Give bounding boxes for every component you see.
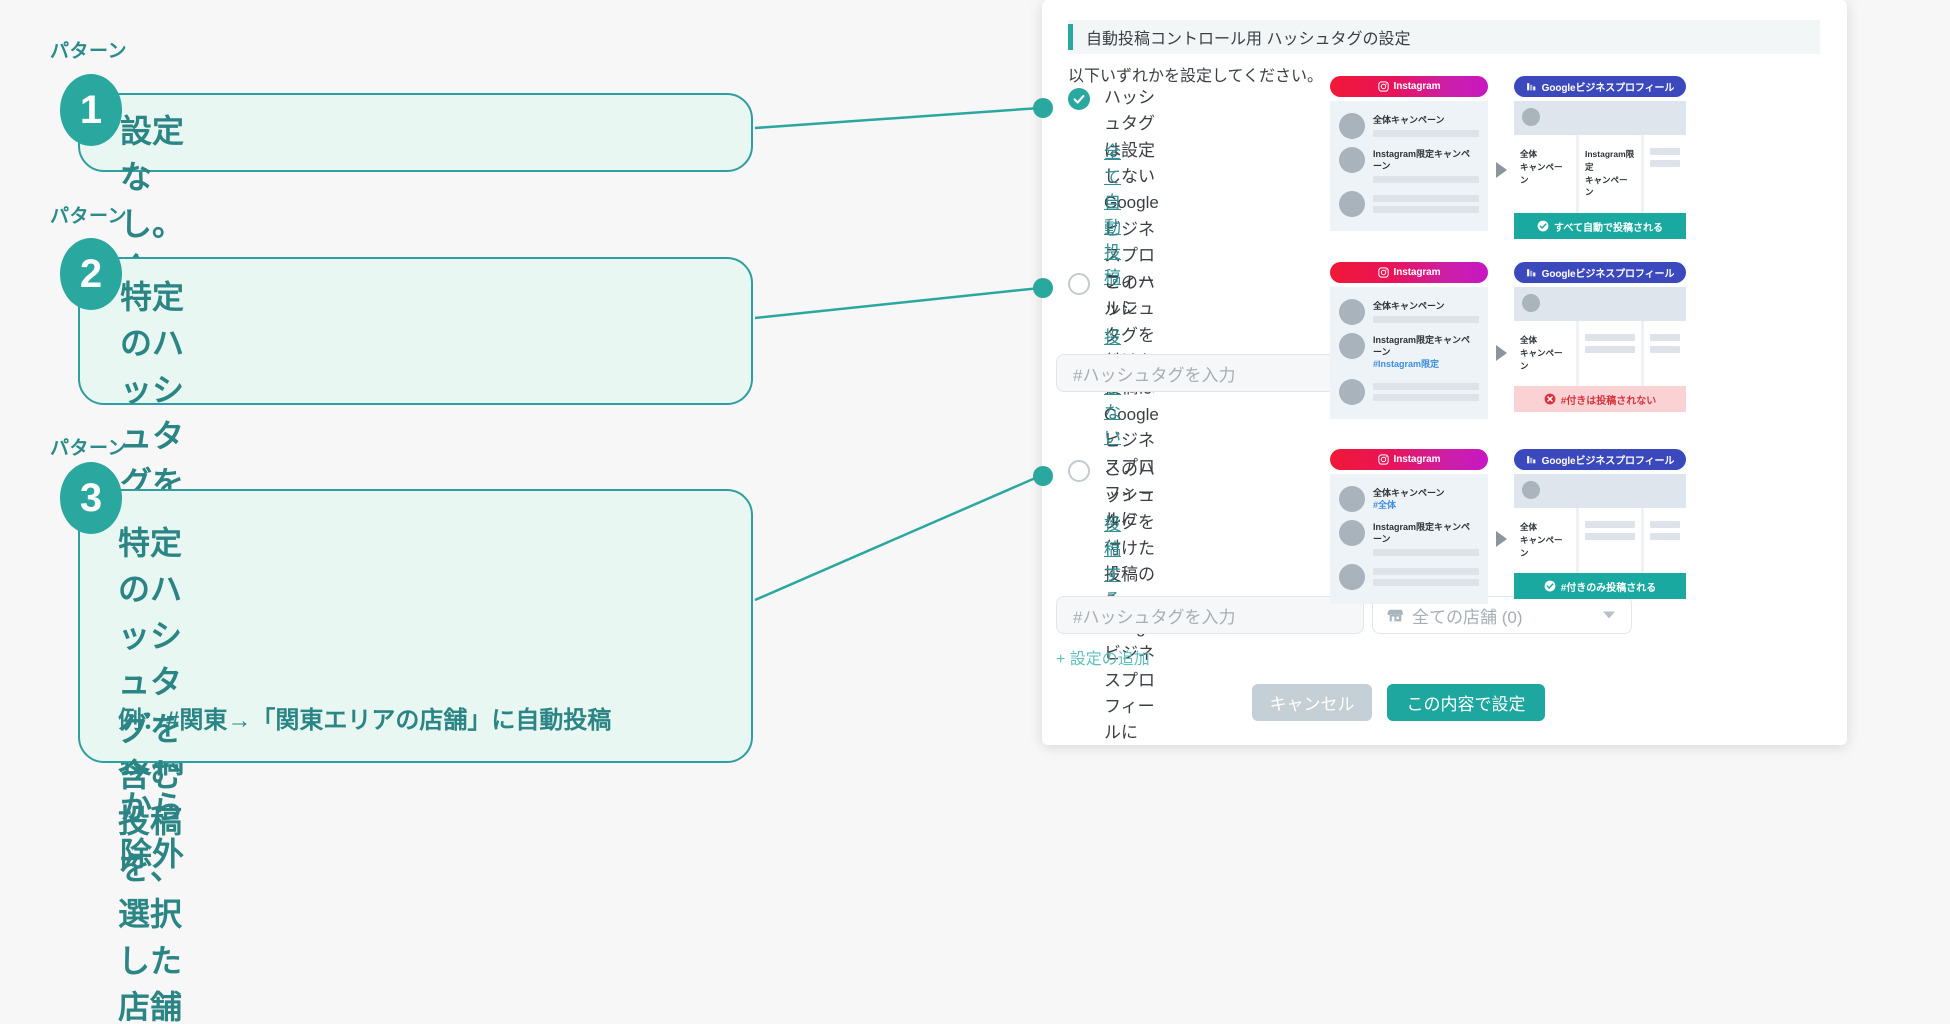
instagram-card-3: Instagram 全体キャンペーン #全体 Instagram限定キャンペーン — [1330, 449, 1488, 604]
instagram-post: 全体キャンペーン — [1330, 295, 1488, 329]
gbp-cell-bar — [1650, 148, 1680, 155]
cancel-button[interactable]: キャンセル — [1252, 684, 1372, 721]
instagram-post: 全体キャンペーン — [1330, 109, 1488, 143]
gbp-cell-bar — [1650, 346, 1680, 353]
gbp-pill-label-2: Googleビジネスプロフィール — [1542, 265, 1675, 280]
gbp-pill-label-1: Googleビジネスプロフィール — [1542, 79, 1675, 94]
post-hashtag: #Instagram限定 — [1373, 358, 1479, 371]
avatar — [1522, 481, 1540, 499]
instagram-pill-label-3: Instagram — [1394, 454, 1441, 465]
post-bar — [1373, 383, 1479, 390]
gbp-cell-bar — [1585, 533, 1635, 540]
gbp-header — [1514, 287, 1686, 321]
option-1-link[interactable]: 全て自動投稿 — [1104, 138, 1121, 288]
post-title: Instagram限定キャンペーン — [1373, 148, 1479, 172]
instagram-card-2: Instagram 全体キャンペーン Instagram限定キャンペーン — [1330, 262, 1488, 419]
instagram-post: Instagram限定キャンペーン #Instagram限定 — [1330, 329, 1488, 375]
avatar — [1522, 294, 1540, 312]
gbp-cell-bar — [1585, 346, 1635, 353]
flow-arrow-wrap-2 — [1488, 321, 1514, 361]
gbp-card-2: Googleビジネスプロフィール 全体 キャンペーン — [1514, 262, 1686, 412]
gbp-header — [1514, 101, 1686, 135]
post-bar — [1373, 394, 1479, 401]
avatar — [1339, 564, 1365, 590]
flow-arrow-wrap-1 — [1488, 138, 1514, 178]
post-bar — [1373, 130, 1479, 137]
avatar — [1339, 191, 1365, 217]
gbp-card-3: Googleビジネスプロフィール 全体 キャンペーン — [1514, 449, 1686, 599]
avatar — [1339, 379, 1365, 405]
post-bar — [1373, 579, 1479, 586]
connector-lines — [740, 0, 1070, 1024]
instagram-post — [1330, 375, 1488, 409]
instagram-post: 全体キャンペーン #全体 — [1330, 482, 1488, 516]
instagram-feed-1: 全体キャンペーン Instagram限定キャンペーン — [1330, 101, 1488, 231]
instagram-feed-2: 全体キャンペーン Instagram限定キャンペーン #Instagram限定 — [1330, 287, 1488, 419]
gbp-cell: Instagram限定 キャンペーン — [1579, 135, 1641, 213]
gbp-preview-2: 全体 キャンペーン — [1514, 287, 1686, 412]
pattern-example-3: 例：#関東→「関東エリアの店舗」に自動投稿 — [118, 700, 611, 735]
gbp-cell — [1644, 508, 1686, 573]
gbp-cell — [1644, 135, 1686, 213]
instagram-post — [1330, 187, 1488, 221]
gbp-pill-label-3: Googleビジネスプロフィール — [1542, 452, 1675, 467]
status-badge-1: すべて自動で投稿される — [1514, 213, 1686, 239]
radio-option-1[interactable] — [1068, 88, 1090, 110]
hashtag-settings-dialog: 自動投稿コントロール用 ハッシュタグの設定 以下いずれかを設定してください。 ハ… — [1042, 0, 1847, 745]
gbp-header — [1514, 474, 1686, 508]
post-title: 全体キャンペーン — [1373, 114, 1479, 126]
gbp-preview-3: 全体 キャンペーン — [1514, 474, 1686, 599]
pattern-label-2: パターン — [50, 201, 127, 228]
confirm-button[interactable]: この内容で設定 — [1387, 684, 1545, 721]
avatar — [1339, 486, 1365, 512]
pattern-label-3: パターン — [50, 433, 127, 460]
check-circle-icon — [1537, 220, 1549, 232]
diagram-2: Instagram 全体キャンペーン Instagram限定キャンペーン — [1330, 262, 1686, 419]
instagram-pill-label-2: Instagram — [1394, 267, 1441, 278]
gbp-cell-text: 全体 キャンペーン — [1520, 148, 1570, 186]
arrow-right-icon — [1496, 162, 1507, 178]
instagram-pill-2: Instagram — [1330, 262, 1488, 283]
dialog-subtitle: 以下いずれかを設定してください。 — [1068, 62, 1323, 86]
instagram-card-1: Instagram 全体キャンペーン Instagram限定キャンペーン — [1330, 76, 1488, 231]
gbp-cell: 全体 キャンペーン — [1514, 135, 1576, 213]
option-3-link[interactable]: 投稿する — [1104, 510, 1121, 610]
post-bar — [1373, 316, 1479, 323]
google-business-icon — [1526, 267, 1537, 278]
pattern-text-3: 特定のハッシュタグを含む投稿を、 選択した店舗のプロフィールにのみ 自動投稿 — [118, 520, 182, 1024]
gbp-cells: 全体 キャンペーン — [1514, 508, 1686, 573]
gbp-cell-text: 全体 キャンペーン — [1520, 334, 1570, 372]
avatar — [1339, 147, 1365, 173]
gbp-cells: 全体 キャンペーン Instagram限定 キャンペーン — [1514, 135, 1686, 213]
gbp-pill-2: Googleビジネスプロフィール — [1514, 262, 1686, 283]
gbp-cell-text: Instagram限定 キャンペーン — [1585, 148, 1635, 199]
gbp-card-1: Googleビジネスプロフィール 全体 キャンペーン Instagram限定 キ… — [1514, 76, 1686, 239]
diagram-3: Instagram 全体キャンペーン #全体 Instagram限定キャンペーン — [1330, 449, 1686, 604]
arrow-right-icon — [1496, 345, 1507, 361]
status-text-1: すべて自動で投稿される — [1554, 219, 1663, 234]
hashtag-input-option-2[interactable]: #ハッシュタグを入力 — [1056, 354, 1336, 392]
gbp-cell: 全体 キャンペーン — [1514, 508, 1576, 573]
status-badge-2: #付きは投稿されない — [1514, 386, 1686, 412]
google-business-icon — [1526, 81, 1537, 92]
google-business-icon — [1526, 454, 1537, 465]
store-select-value: 全ての店舗 (0) — [1412, 603, 1523, 628]
avatar — [1339, 333, 1365, 359]
instagram-pill-label-1: Instagram — [1394, 81, 1441, 92]
avatar — [1339, 113, 1365, 139]
chevron-down-icon[interactable] — [1603, 612, 1615, 619]
status-text-2: #付きは投稿されない — [1561, 392, 1657, 407]
avatar — [1522, 108, 1540, 126]
post-bar — [1373, 195, 1479, 202]
gbp-cells: 全体 キャンペーン — [1514, 321, 1686, 386]
hashtag-input-option-3[interactable]: #ハッシュタグを入力 — [1056, 596, 1364, 634]
avatar — [1339, 299, 1365, 325]
gbp-cell-bar — [1650, 334, 1680, 341]
gbp-cell-text: 全体 キャンペーン — [1520, 521, 1570, 559]
post-title: Instagram限定キャンペーン — [1373, 521, 1479, 545]
gbp-cell-bar — [1585, 334, 1635, 341]
post-title: 全体キャンペーン — [1373, 487, 1479, 499]
store-icon — [1387, 607, 1404, 624]
gbp-cell — [1644, 321, 1686, 386]
gbp-pill-1: Googleビジネスプロフィール — [1514, 76, 1686, 97]
gbp-cell-bar — [1650, 160, 1680, 167]
flow-arrow-wrap-3 — [1488, 507, 1514, 547]
instagram-post — [1330, 560, 1488, 594]
gbp-pill-3: Googleビジネスプロフィール — [1514, 449, 1686, 470]
instagram-icon — [1378, 81, 1389, 92]
instagram-post: Instagram限定キャンペーン — [1330, 143, 1488, 187]
pattern-label-1: パターン — [50, 36, 127, 63]
radio-option-2[interactable] — [1068, 273, 1090, 295]
gbp-cell-bar — [1585, 521, 1635, 528]
post-title: Instagram限定キャンペーン — [1373, 334, 1479, 358]
arrow-right-icon — [1496, 531, 1507, 547]
post-bar — [1373, 176, 1479, 183]
pattern-number-1: 1 — [60, 74, 122, 146]
post-hashtag: #全体 — [1373, 499, 1479, 512]
pattern-number-2: 2 — [60, 238, 122, 310]
instagram-icon — [1378, 267, 1389, 278]
error-circle-icon — [1544, 393, 1556, 405]
gbp-cell — [1579, 508, 1641, 573]
gbp-cell-bar — [1650, 533, 1680, 540]
post-title: 全体キャンペーン — [1373, 300, 1479, 312]
gbp-cell-bar — [1650, 521, 1680, 528]
avatar — [1339, 520, 1365, 546]
gbp-preview-1: 全体 キャンペーン Instagram限定 キャンペーン — [1514, 101, 1686, 239]
add-setting-link[interactable]: + 設定の追加 — [1056, 645, 1150, 669]
gbp-cell: 全体 キャンペーン — [1514, 321, 1576, 386]
pattern-number-3: 3 — [60, 462, 122, 534]
check-icon — [1072, 92, 1086, 106]
post-bar — [1373, 549, 1479, 556]
instagram-pill-3: Instagram — [1330, 449, 1488, 470]
screenshot-root: パターン 1 設定なし。全て自動投稿 パターン 2 特定のハッシュタグを含む投稿… — [0, 0, 1950, 1024]
check-circle-icon — [1544, 580, 1556, 592]
dialog-title: 自動投稿コントロール用 ハッシュタグの設定 — [1086, 25, 1410, 49]
post-bar — [1373, 206, 1479, 213]
dialog-title-bar: 自動投稿コントロール用 ハッシュタグの設定 — [1068, 20, 1820, 54]
gbp-cell — [1579, 321, 1641, 386]
instagram-pill-1: Instagram — [1330, 76, 1488, 97]
post-bar — [1373, 568, 1479, 575]
instagram-feed-3: 全体キャンペーン #全体 Instagram限定キャンペーン — [1330, 474, 1488, 604]
radio-option-3[interactable] — [1068, 460, 1090, 482]
instagram-icon — [1378, 454, 1389, 465]
diagram-1: Instagram 全体キャンペーン Instagram限定キャンペーン — [1330, 76, 1686, 239]
status-text-3: #付きのみ投稿される — [1561, 579, 1657, 594]
instagram-post: Instagram限定キャンペーン — [1330, 516, 1488, 560]
status-badge-3: #付きのみ投稿される — [1514, 573, 1686, 599]
